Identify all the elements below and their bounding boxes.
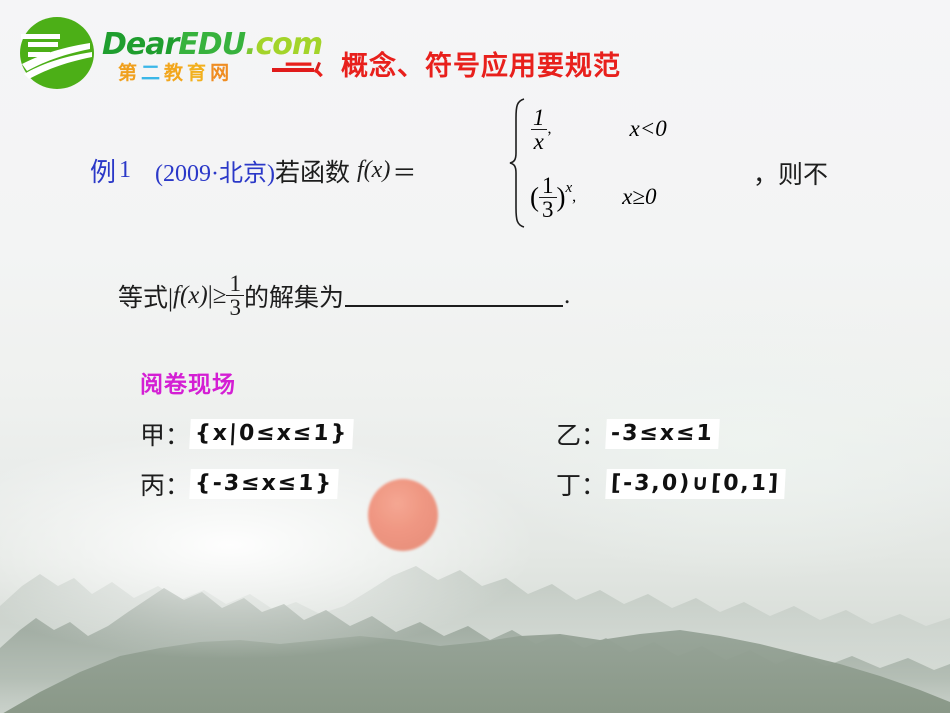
globe-logo-icon: [18, 16, 96, 90]
logo-sub-char-4: 育: [187, 62, 210, 84]
handwriting-bing: {-3≤x≤1}: [189, 469, 339, 499]
answer-row-jia: 甲： {x|0≤x≤1}: [140, 416, 353, 452]
line2-period: .: [564, 282, 570, 310]
case1-condition: x<0: [552, 116, 667, 142]
example-number: 1: [116, 157, 131, 184]
sun-graphic: [368, 479, 438, 551]
logo-sub-char-2: 二: [141, 62, 164, 84]
case1-fraction: 1 x: [530, 106, 548, 153]
answer-label-bing: 丙：: [140, 466, 190, 502]
handwriting-ding: [-3,0)∪[0,1]: [605, 469, 786, 499]
site-logo[interactable]: DearEDU.com 第二教育网: [10, 12, 310, 92]
case2-open-paren: (: [530, 182, 539, 213]
line2-fraction: 1 3: [226, 272, 244, 319]
logo-word-dot: .: [245, 27, 255, 62]
case2-fraction: 1 3: [539, 174, 557, 221]
line2-denominator: 3: [226, 295, 244, 319]
piecewise-case-2: ( 1 3 ) x , x≥0: [530, 166, 667, 228]
example-label: 例: [90, 152, 116, 189]
logo-word-dear: Dear: [102, 27, 178, 62]
answer-label-jia: 甲：: [140, 416, 190, 452]
line2-suffix: 的解集为: [244, 278, 344, 314]
piecewise-function: 1 x , x<0 ( 1 3 ) x , x≥0: [508, 98, 667, 228]
case1-denominator: x: [531, 129, 547, 153]
mist-overlay-left: [0, 430, 540, 660]
case2-condition: x≥0: [576, 184, 656, 210]
logo-word-edu: EDU: [178, 27, 245, 62]
case2-close-paren: ): [557, 182, 566, 213]
answer-row-bing: 丙： {-3≤x≤1}: [140, 466, 338, 502]
answer-label-yi: 乙：: [556, 416, 606, 452]
answer-row-ding: 丁： [-3,0)∪[0,1]: [556, 466, 785, 502]
case1-numerator: 1: [530, 106, 548, 129]
logo-sub-char-5: 网: [210, 62, 233, 84]
section-heading-review: 阅卷现场: [140, 365, 236, 399]
piecewise-case-1: 1 x , x<0: [530, 98, 667, 160]
page-title: 一、概念、符号应用要规范: [285, 44, 621, 83]
example-source: (2009·北京): [155, 153, 275, 188]
function-notation: f(x): [350, 157, 390, 184]
equals-sign: ＝: [390, 153, 418, 188]
case2-denominator: 3: [539, 197, 557, 221]
line2-function: f(x): [173, 282, 208, 310]
logo-subtitle: 第二教育网: [118, 64, 233, 83]
example-statement-line2: 等式| f(x) |≥ 1 3 的解集为 .: [118, 272, 570, 319]
left-brace-icon: [508, 98, 526, 228]
line2-prefix: 等式|: [118, 278, 173, 314]
handwriting-yi: -3≤x≤1: [605, 419, 719, 449]
handwriting-jia: {x|0≤x≤1}: [189, 419, 354, 449]
line2-numerator: 1: [226, 272, 244, 295]
line2-inequality: |≥: [208, 282, 227, 310]
logo-sub-char-1: 第: [118, 62, 141, 84]
piecewise-cases: 1 x , x<0 ( 1 3 ) x , x≥0: [526, 98, 667, 228]
case2-exponent: x: [566, 180, 573, 197]
example-stem-text: 若函数: [275, 153, 350, 189]
example-statement-line1: 例 1 (2009·北京) 若函数 f(x) ＝: [90, 152, 418, 189]
case2-numerator: 1: [539, 174, 557, 197]
answer-row-yi: 乙： -3≤x≤1: [556, 416, 719, 452]
slide-canvas: DearEDU.com 第二教育网 一、概念、符号应用要规范 例 1 (2009…: [0, 0, 950, 713]
logo-sub-char-3: 教: [164, 62, 187, 84]
answer-label-ding: 丁：: [556, 466, 606, 502]
answer-blank[interactable]: [345, 285, 563, 307]
statement-tail: ，则不: [753, 155, 828, 191]
